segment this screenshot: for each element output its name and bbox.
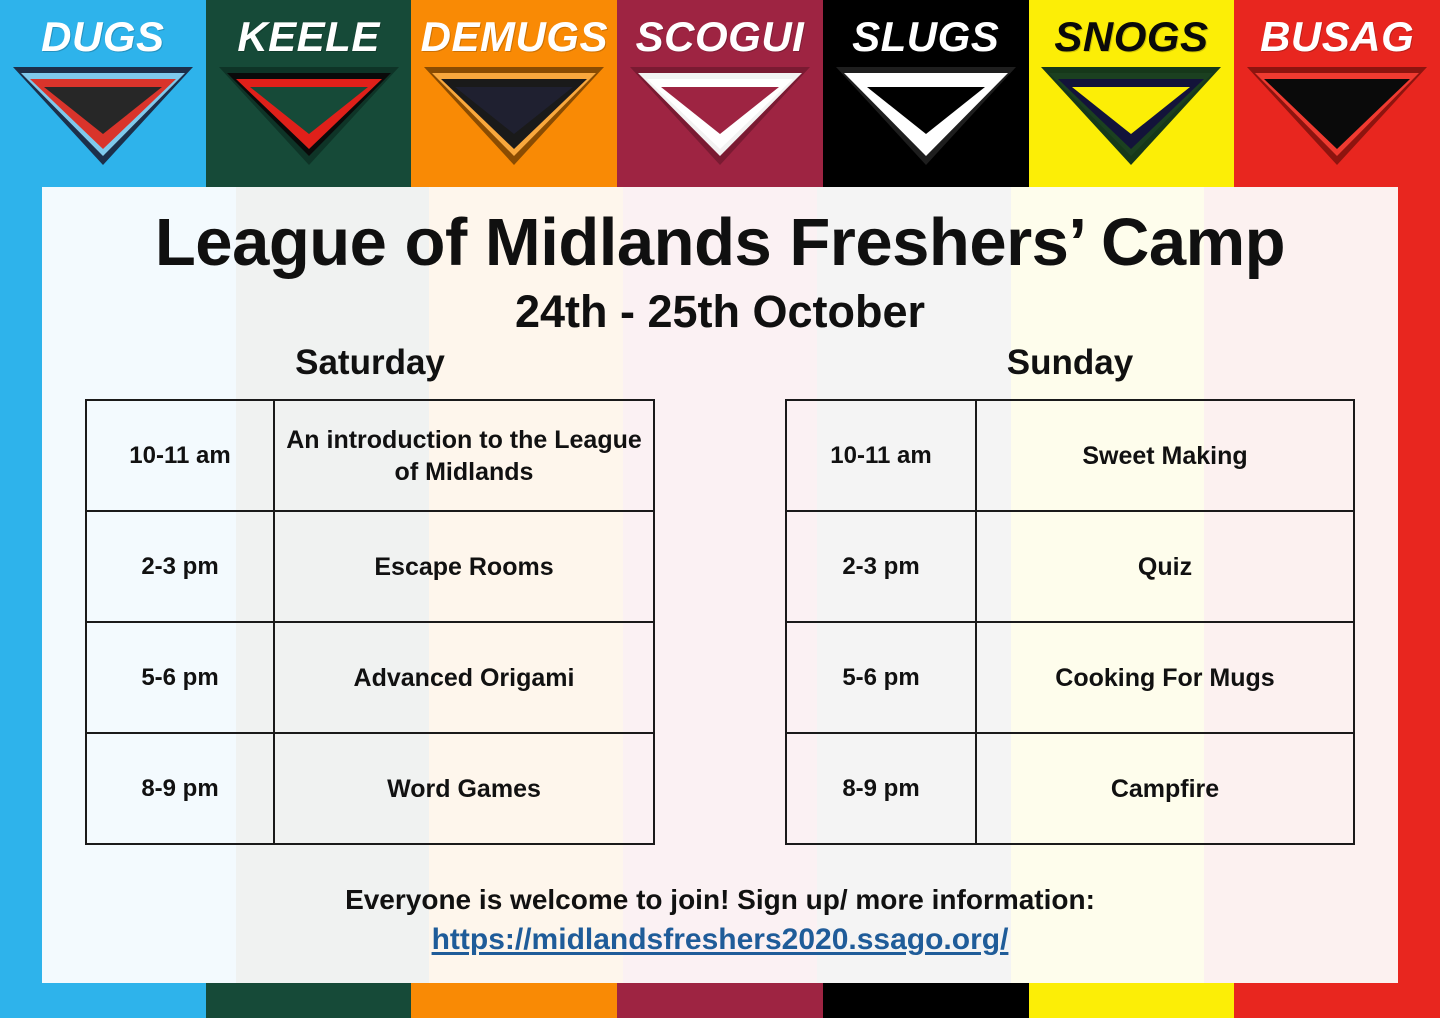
signup-link[interactable]: https://midlandsfreshers2020.ssago.org/ <box>432 923 1009 957</box>
table-row: 8-9 pmWord Games <box>86 733 654 844</box>
event-cell: Word Games <box>274 733 654 844</box>
society-name: KEELE <box>237 16 380 58</box>
society-name: SNOGS <box>1054 16 1208 58</box>
table-row: 8-9 pmCampfire <box>786 733 1354 844</box>
day-heading: Sunday <box>785 345 1355 380</box>
society-name: BUSAG <box>1260 16 1414 58</box>
time-cell: 10-11 am <box>86 400 274 511</box>
society-name: DEMUGS <box>421 16 608 58</box>
page-subtitle: 24th - 25th October <box>42 276 1398 334</box>
event-cell: An introduction to the League of Midland… <box>274 400 654 511</box>
event-cell: Advanced Origami <box>274 622 654 733</box>
time-cell: 10-11 am <box>786 400 976 511</box>
chevron-down-logo-snogs-icon <box>1038 64 1224 168</box>
day-column-sunday: Sunday10-11 amSweet Making2-3 pmQuiz5-6 … <box>785 345 1355 845</box>
time-cell: 2-3 pm <box>786 511 976 622</box>
schedule-container: Saturday10-11 amAn introduction to the L… <box>42 345 1398 845</box>
content-panel: League of Midlands Freshers’ Camp 24th -… <box>42 187 1398 983</box>
table-row: 5-6 pmAdvanced Origami <box>86 622 654 733</box>
society-header-scogui: SCOGUI <box>617 0 823 187</box>
footer: Everyone is welcome to join! Sign up/ mo… <box>42 883 1398 957</box>
table-row: 2-3 pmQuiz <box>786 511 1354 622</box>
schedule-table-sunday: 10-11 amSweet Making2-3 pmQuiz5-6 pmCook… <box>785 399 1355 845</box>
society-header-demugs: DEMUGS <box>411 0 617 187</box>
chevron-down-logo-scogui-icon <box>627 64 813 168</box>
day-heading: Saturday <box>85 345 655 380</box>
event-cell: Campfire <box>976 733 1354 844</box>
table-row: 10-11 amSweet Making <box>786 400 1354 511</box>
society-header-snogs: SNOGS <box>1029 0 1235 187</box>
society-header-keele: KEELE <box>206 0 412 187</box>
chevron-down-logo-slugs-icon <box>833 64 1019 168</box>
event-cell: Quiz <box>976 511 1354 622</box>
society-header-dugs: DUGS <box>0 0 206 187</box>
event-cell: Cooking For Mugs <box>976 622 1354 733</box>
time-cell: 8-9 pm <box>86 733 274 844</box>
event-cell: Sweet Making <box>976 400 1354 511</box>
chevron-down-logo-dugs-icon <box>10 64 196 168</box>
welcome-text: Everyone is welcome to join! Sign up/ mo… <box>42 883 1398 917</box>
poster-root: DUGSKEELEDEMUGSSCOGUISLUGSSNOGSBUSAG Lea… <box>0 0 1440 1018</box>
schedule-table-saturday: 10-11 amAn introduction to the League of… <box>85 399 655 845</box>
chevron-down-logo-demugs-icon <box>421 64 607 168</box>
time-cell: 2-3 pm <box>86 511 274 622</box>
day-column-saturday: Saturday10-11 amAn introduction to the L… <box>85 345 655 845</box>
society-header-busag: BUSAG <box>1234 0 1440 187</box>
chevron-down-logo-busag-icon <box>1244 64 1430 168</box>
time-cell: 5-6 pm <box>786 622 976 733</box>
society-header-slugs: SLUGS <box>823 0 1029 187</box>
time-cell: 5-6 pm <box>86 622 274 733</box>
chevron-down-logo-keele-icon <box>216 64 402 168</box>
time-cell: 8-9 pm <box>786 733 976 844</box>
society-name: SCOGUI <box>636 16 805 58</box>
society-name: DUGS <box>41 16 164 58</box>
table-row: 10-11 amAn introduction to the League of… <box>86 400 654 511</box>
page-title: League of Midlands Freshers’ Camp <box>42 187 1398 276</box>
table-row: 2-3 pmEscape Rooms <box>86 511 654 622</box>
society-name: SLUGS <box>852 16 999 58</box>
event-cell: Escape Rooms <box>274 511 654 622</box>
table-row: 5-6 pmCooking For Mugs <box>786 622 1354 733</box>
